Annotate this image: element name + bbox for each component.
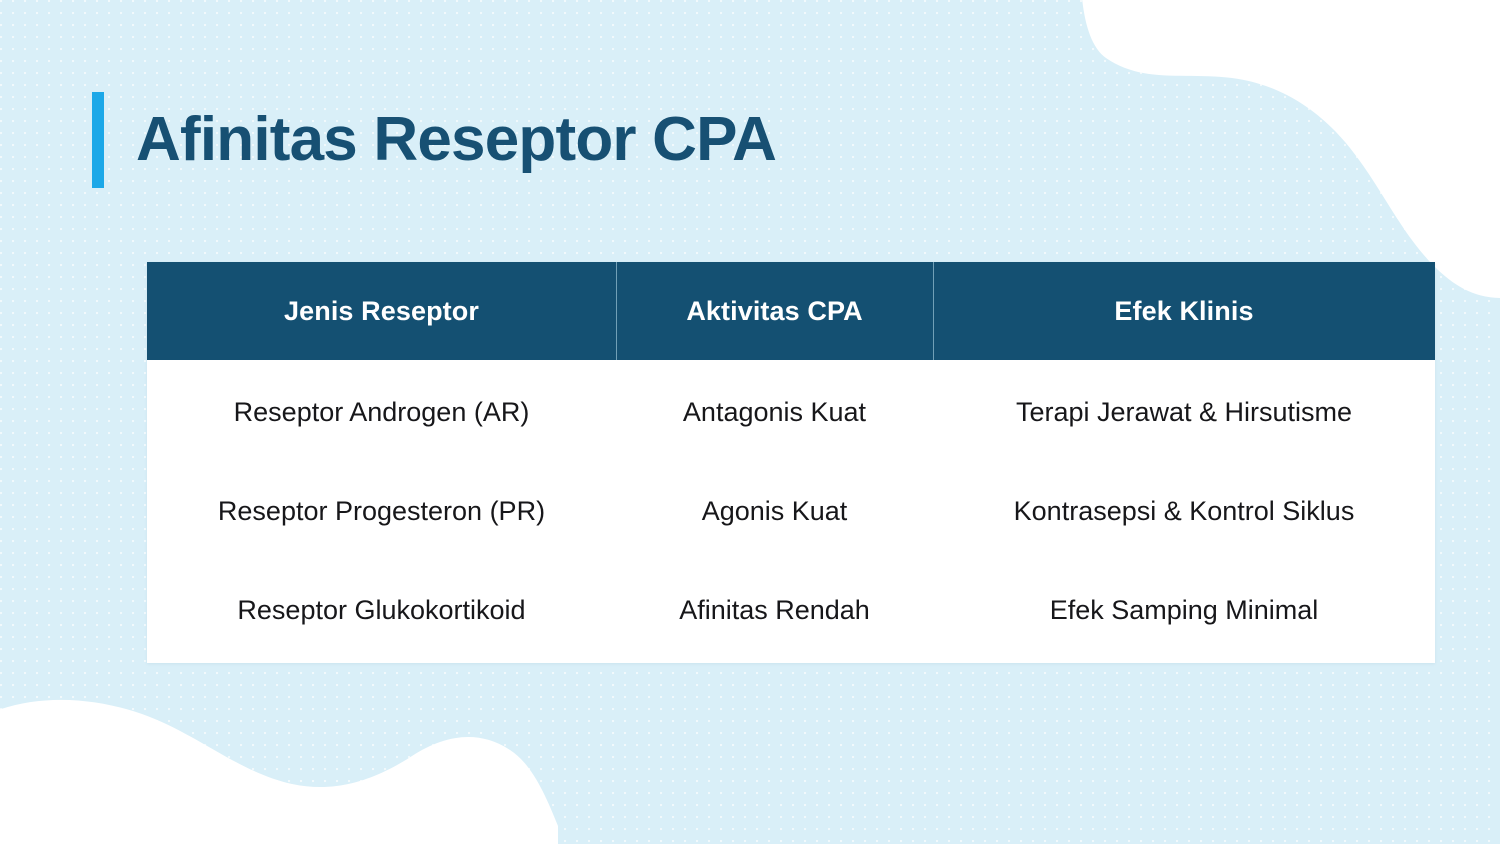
cell-jenis-reseptor: Reseptor Progesteron (PR) bbox=[147, 461, 616, 562]
column-header-efek-klinis: Efek Klinis bbox=[933, 262, 1435, 360]
cell-aktivitas-cpa: Afinitas Rendah bbox=[616, 562, 933, 663]
cell-aktivitas-cpa: Antagonis Kuat bbox=[616, 360, 933, 461]
receptor-affinity-table-card: Jenis Reseptor Aktivitas CPA Efek Klinis… bbox=[147, 262, 1435, 663]
cell-jenis-reseptor: Reseptor Glukokortikoid bbox=[147, 562, 616, 663]
cell-aktivitas-cpa: Agonis Kuat bbox=[616, 461, 933, 562]
page-title: Afinitas Reseptor CPA bbox=[136, 92, 776, 188]
table-header-row: Jenis Reseptor Aktivitas CPA Efek Klinis bbox=[147, 262, 1435, 360]
cell-jenis-reseptor: Reseptor Androgen (AR) bbox=[147, 360, 616, 461]
presentation-slide: Afinitas Reseptor CPA Jenis Reseptor Akt… bbox=[0, 0, 1500, 844]
table-row: Reseptor Glukokortikoid Afinitas Rendah … bbox=[147, 562, 1435, 663]
table-body: Reseptor Androgen (AR) Antagonis Kuat Te… bbox=[147, 360, 1435, 663]
table-row: Reseptor Androgen (AR) Antagonis Kuat Te… bbox=[147, 360, 1435, 461]
table-row: Reseptor Progesteron (PR) Agonis Kuat Ko… bbox=[147, 461, 1435, 562]
column-header-jenis-reseptor: Jenis Reseptor bbox=[147, 262, 616, 360]
cell-efek-klinis: Efek Samping Minimal bbox=[933, 562, 1435, 663]
decorative-blob-top-right bbox=[1082, 0, 1500, 298]
slide-header: Afinitas Reseptor CPA bbox=[92, 92, 776, 188]
table-header: Jenis Reseptor Aktivitas CPA Efek Klinis bbox=[147, 262, 1435, 360]
cell-efek-klinis: Terapi Jerawat & Hirsutisme bbox=[933, 360, 1435, 461]
receptor-affinity-table: Jenis Reseptor Aktivitas CPA Efek Klinis… bbox=[147, 262, 1435, 663]
column-header-aktivitas-cpa: Aktivitas CPA bbox=[616, 262, 933, 360]
title-accent-bar bbox=[92, 92, 104, 188]
cell-efek-klinis: Kontrasepsi & Kontrol Siklus bbox=[933, 461, 1435, 562]
